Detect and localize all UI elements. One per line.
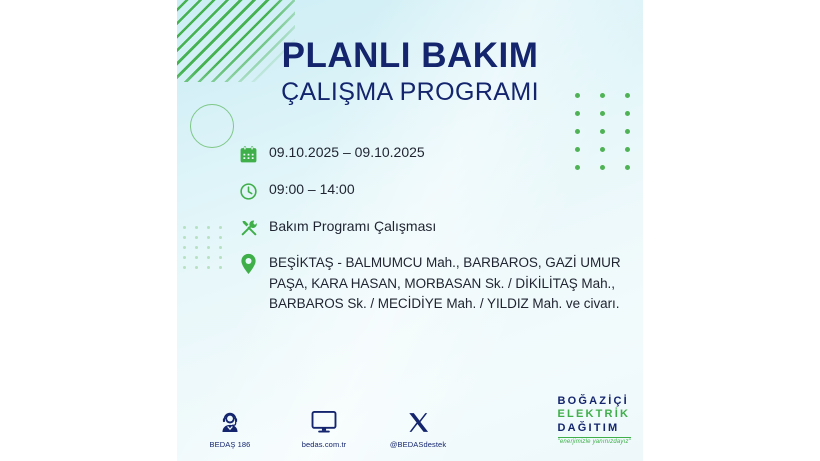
decorative-dot	[219, 246, 222, 249]
decorative-dot	[219, 266, 222, 269]
poster-header: PLANLI BAKIM ÇALIŞMA PROGRAMI	[177, 38, 643, 106]
decorative-dot	[600, 111, 605, 116]
bedas-logo: BOĞAZİÇİ ELEKTRİK DAĞITIM "enerjimizle y…	[558, 395, 632, 445]
decorative-dot	[183, 256, 186, 259]
detail-row-date: 09.10.2025 – 09.10.2025	[239, 142, 629, 166]
decorative-dot	[183, 266, 186, 269]
decorative-dot	[625, 111, 630, 116]
decorative-dot	[195, 246, 198, 249]
logo-tagline: "enerjimizle yanınızdayız"	[558, 439, 632, 445]
poster-footer: BEDAŞ 186 bedas.com.tr	[177, 389, 643, 453]
detail-date-text: 09.10.2025 – 09.10.2025	[269, 142, 425, 159]
decorative-dot	[600, 129, 605, 134]
decorative-dot	[207, 246, 210, 249]
detail-row-time: 09:00 – 14:00	[239, 179, 629, 203]
contact-twitter-label: @BEDASdestek	[390, 440, 446, 449]
decorative-dot	[183, 246, 186, 249]
decorative-dot	[219, 236, 222, 239]
logo-line-dagitim: DAĞITIM	[558, 422, 632, 435]
decorative-dot	[183, 236, 186, 239]
circle-outline-decoration	[190, 104, 234, 148]
decorative-dot	[575, 111, 580, 116]
screenshot-canvas: PLANLI BAKIM ÇALIŞMA PROGRAMI	[0, 0, 820, 461]
detail-row-work-type: Bakım Programı Çalışması	[239, 216, 629, 240]
logo-divider	[558, 437, 632, 438]
dot-grid-left-decoration	[183, 226, 225, 272]
decorative-dot	[207, 236, 210, 239]
tools-icon	[239, 216, 269, 240]
decorative-dot	[219, 226, 222, 229]
detail-address-text: BEŞİKTAŞ - BALMUMCU Mah., BARBAROS, GAZİ…	[269, 253, 629, 315]
decorative-dot	[207, 256, 210, 259]
decorative-dot	[195, 226, 198, 229]
decorative-dot	[183, 226, 186, 229]
page-subtitle: ÇALIŞMA PROGRAMI	[177, 79, 643, 107]
monitor-icon	[311, 408, 337, 434]
decorative-dot	[219, 256, 222, 259]
x-twitter-icon	[407, 408, 430, 434]
decorative-dot	[195, 236, 198, 239]
contact-phone-label: BEDAŞ 186	[210, 440, 251, 449]
contact-website-label: bedas.com.tr	[302, 440, 347, 449]
decorative-dot	[195, 256, 198, 259]
detail-row-address: BEŞİKTAŞ - BALMUMCU Mah., BARBAROS, GAZİ…	[239, 253, 629, 315]
calendar-icon	[239, 142, 269, 166]
decorative-dot	[195, 266, 198, 269]
contact-phone[interactable]: BEDAŞ 186	[197, 408, 263, 449]
decorative-dot	[625, 129, 630, 134]
contact-twitter[interactable]: @BEDASdestek	[385, 408, 451, 449]
detail-time-text: 09:00 – 14:00	[269, 179, 355, 196]
logo-line-bogazici: BOĞAZİÇİ	[558, 395, 632, 408]
contact-website[interactable]: bedas.com.tr	[291, 408, 357, 449]
decorative-dot	[575, 129, 580, 134]
maintenance-details: 09.10.2025 – 09.10.2025 09:00 – 14:00	[239, 142, 629, 315]
decorative-dot	[207, 266, 210, 269]
page-title: PLANLI BAKIM	[177, 38, 643, 75]
clock-icon	[239, 179, 269, 203]
planned-maintenance-poster: PLANLI BAKIM ÇALIŞMA PROGRAMI	[177, 0, 643, 461]
detail-work-type-text: Bakım Programı Çalışması	[269, 216, 436, 233]
support-agent-icon	[218, 408, 242, 434]
decorative-dot	[207, 226, 210, 229]
location-pin-icon	[239, 253, 269, 275]
contact-channels: BEDAŞ 186 bedas.com.tr	[197, 408, 451, 449]
logo-line-elektrik: ELEKTRİK	[558, 408, 632, 421]
